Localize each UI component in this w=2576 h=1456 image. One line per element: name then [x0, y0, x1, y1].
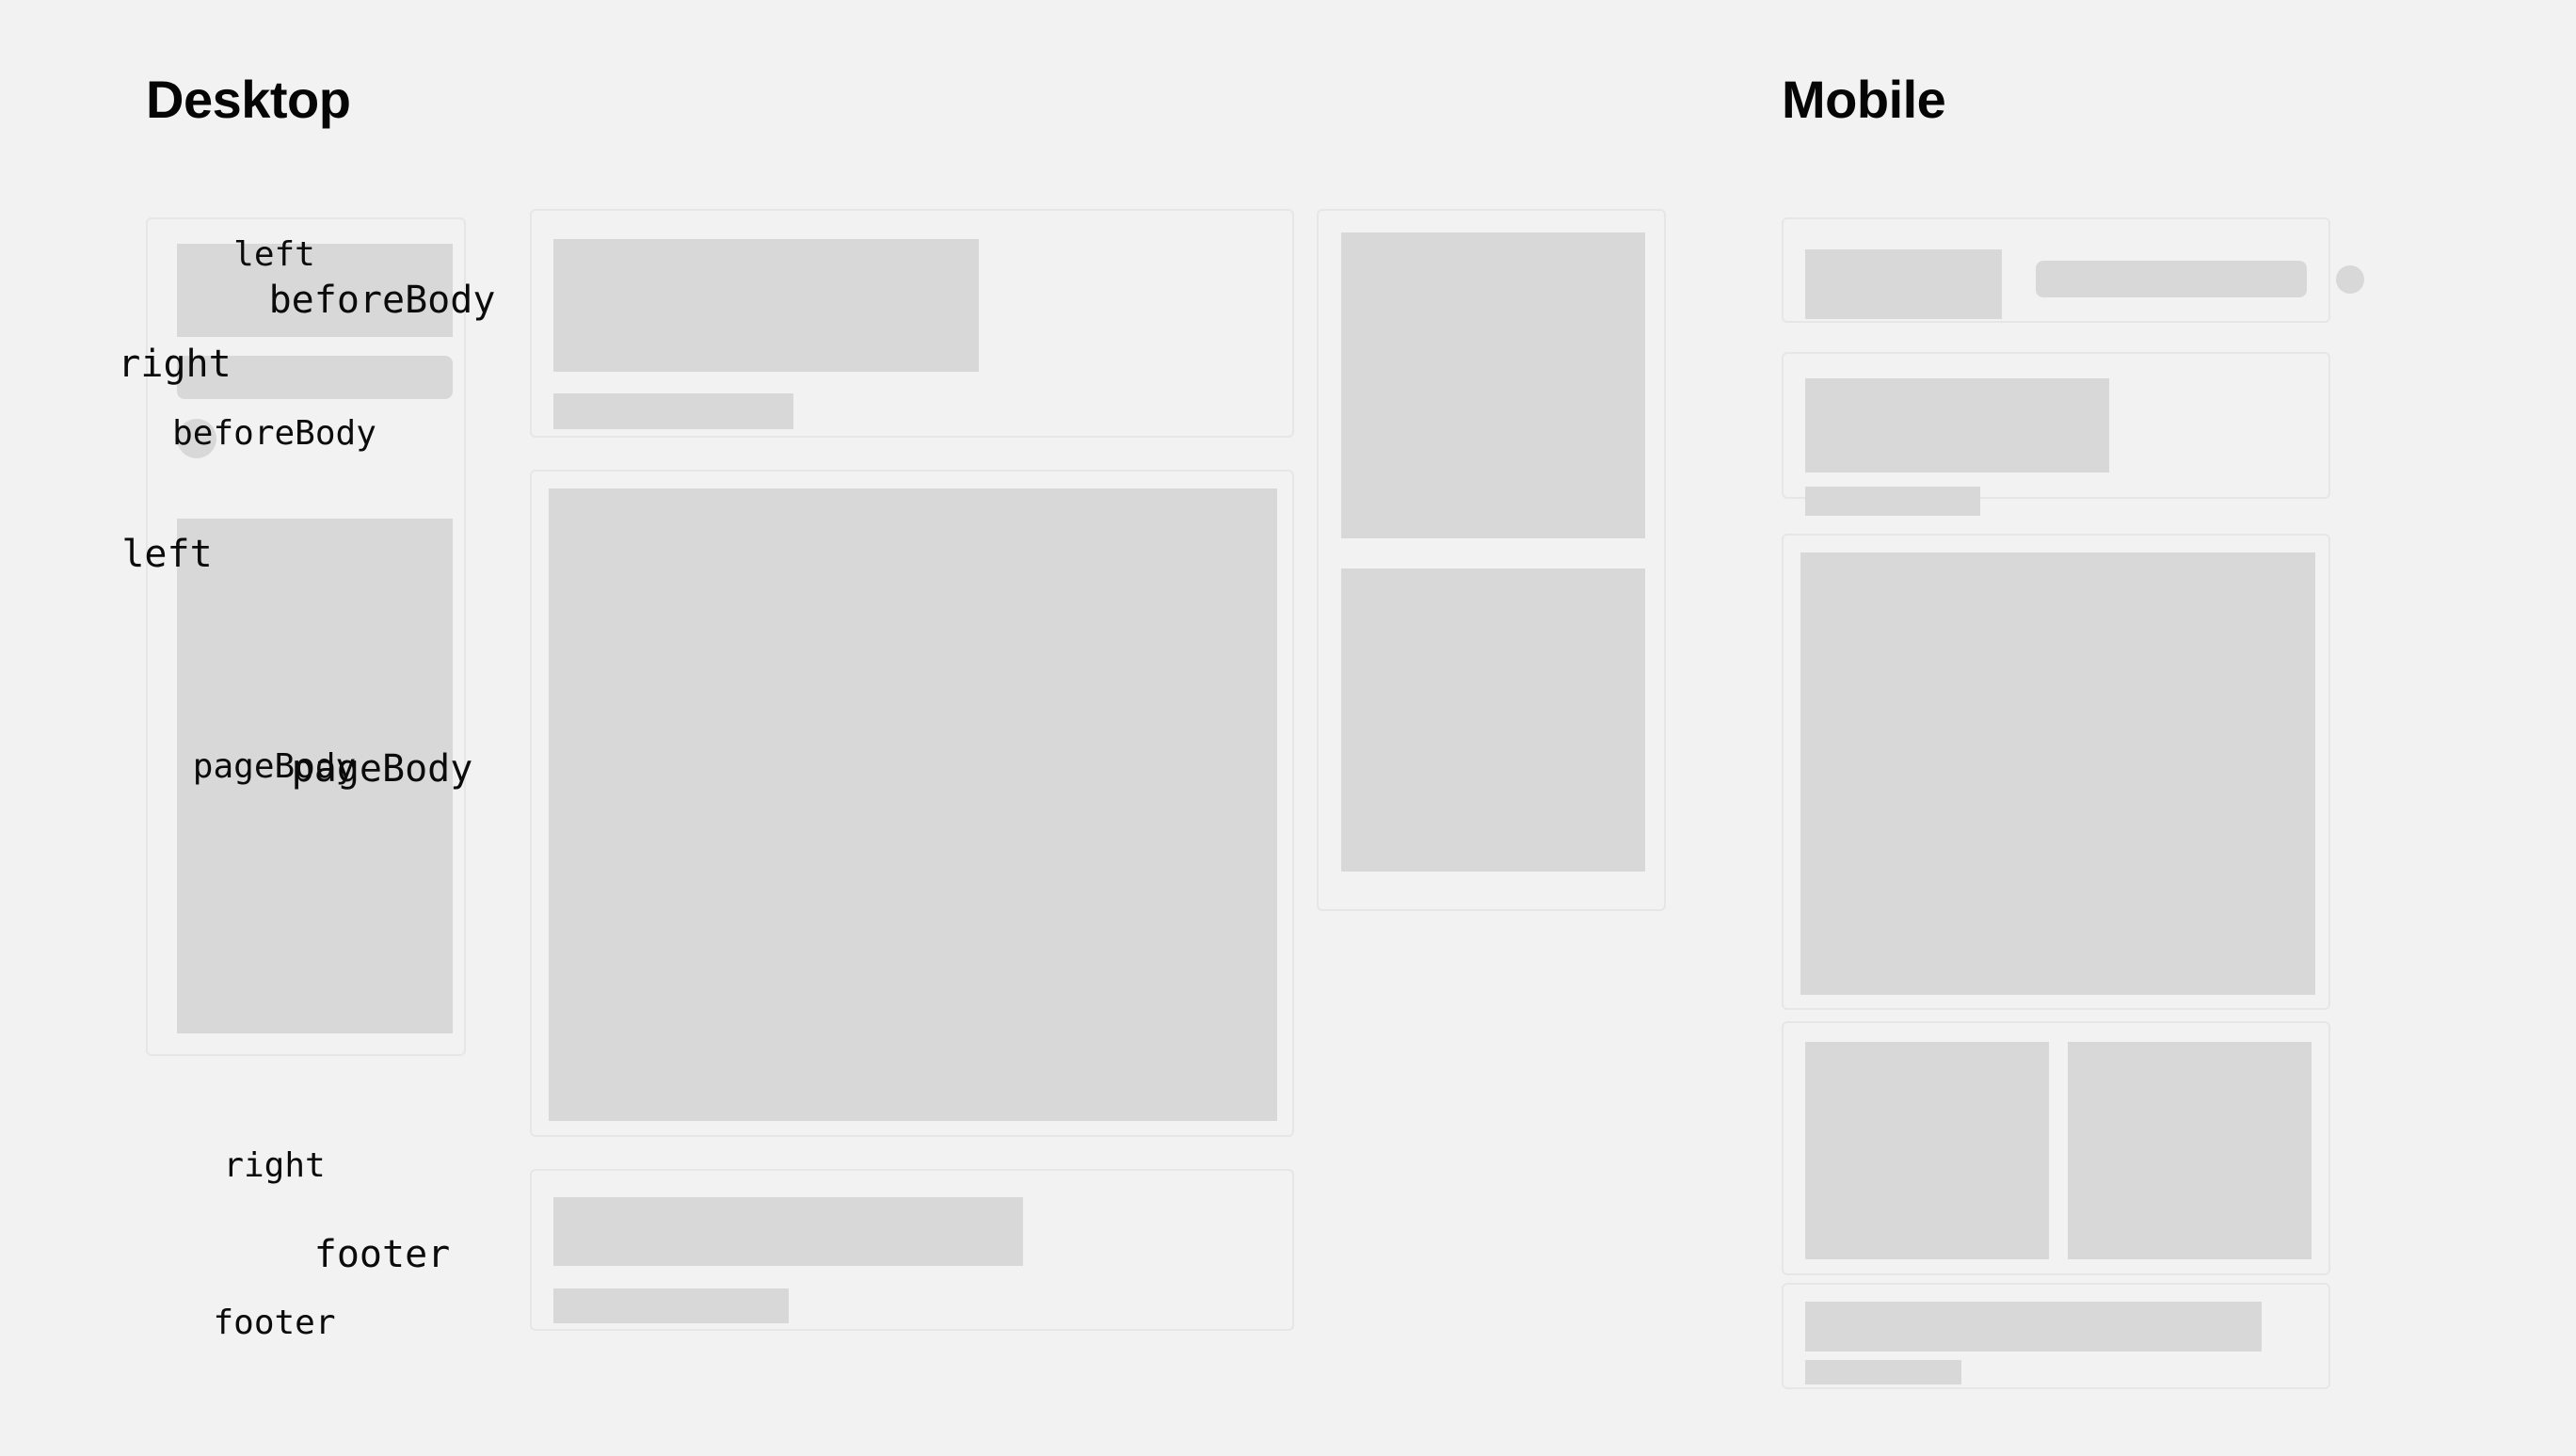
desktop-left-region-panel[interactable]: [146, 217, 466, 1056]
skeleton-block: [177, 519, 453, 1033]
mobile-beforebody-region-panel[interactable]: [1782, 352, 2330, 499]
skeleton-block: [1805, 378, 2109, 472]
mobile-footer-region-label: footer: [0, 1306, 549, 1340]
skeleton-avatar-circle: [2336, 265, 2364, 294]
skeleton-block: [1805, 1360, 1961, 1384]
desktop-right-region-panel[interactable]: [1317, 209, 1666, 911]
mobile-right-region-panel[interactable]: [1782, 1021, 2330, 1275]
mobile-pagebody-region-panel[interactable]: [1782, 534, 2330, 1010]
mobile-left-region-panel[interactable]: [1782, 217, 2330, 323]
mobile-section-title: Mobile: [1782, 73, 1945, 126]
skeleton-block: [1805, 487, 1980, 516]
skeleton-block: [1805, 1042, 2049, 1259]
skeleton-block: [553, 239, 979, 372]
skeleton-block: [553, 393, 793, 429]
skeleton-avatar-circle: [177, 419, 216, 458]
skeleton-block: [1805, 1302, 2262, 1352]
skeleton-block: [1805, 249, 2002, 319]
desktop-pagebody-region-panel[interactable]: [530, 470, 1294, 1137]
skeleton-block: [1341, 568, 1645, 872]
layout-preview-page: { "sections": [ { "key": "desktop", "tit…: [0, 0, 2576, 1456]
skeleton-block: [1341, 232, 1645, 538]
skeleton-block: [2068, 1042, 2312, 1259]
mobile-footer-region-panel[interactable]: [1782, 1283, 2330, 1389]
desktop-section-title: Desktop: [146, 73, 350, 126]
skeleton-block: [1800, 552, 2315, 995]
skeleton-block: [177, 244, 453, 337]
skeleton-pill: [2036, 261, 2307, 297]
mobile-right-region-label: right: [0, 1149, 549, 1183]
skeleton-block: [549, 488, 1277, 1121]
desktop-footer-region-panel[interactable]: [530, 1169, 1294, 1331]
skeleton-pill: [177, 356, 453, 399]
skeleton-block: [553, 1197, 1023, 1266]
desktop-beforebody-region-panel[interactable]: [530, 209, 1294, 438]
skeleton-block: [553, 1288, 789, 1323]
